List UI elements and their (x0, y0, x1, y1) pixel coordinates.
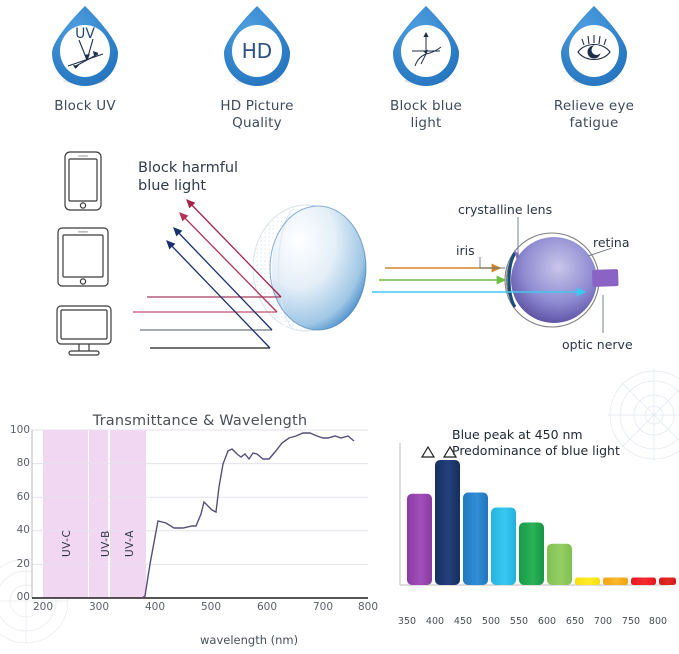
y-tick: 40 (4, 524, 30, 536)
label-crystalline-lens: crystalline lens (458, 202, 552, 217)
bar-650 (575, 578, 600, 586)
blue-peak-note: Blue peak at 450 nm Predominance of blue… (452, 427, 662, 458)
hd-icon: HD (218, 4, 296, 86)
bar-700 (603, 578, 628, 586)
bar-tick: 350 (394, 616, 420, 627)
band-label-uv-b: UV-B (100, 530, 112, 557)
bar-400 (435, 460, 460, 585)
blue-light-block-icon (387, 4, 465, 86)
feature-label: Relieve eye fatigue (509, 98, 679, 132)
y-tick: 80 (4, 457, 30, 469)
bar-tick: 600 (534, 616, 560, 627)
bar-tick: 550 (506, 616, 532, 627)
eyeglass-lens (253, 205, 366, 331)
band-uv-c (43, 430, 88, 598)
feature-row: UV Block UV (0, 0, 679, 140)
feature-label: Block blue light (341, 98, 511, 132)
label-iris: iris (456, 243, 475, 258)
bar-tick: 500 (478, 616, 504, 627)
tablet-icon (58, 228, 108, 286)
bar-750 (631, 578, 656, 586)
optic-nerve-shape (592, 269, 619, 287)
band-label-uv-c: UV-C (61, 530, 73, 557)
feature-relieve-eye-fatigue: Relieve eye fatigue (509, 4, 679, 132)
x-tick: 600 (250, 601, 284, 613)
label-retina: retina (593, 235, 630, 250)
bar-550 (519, 523, 544, 586)
device-group (52, 150, 124, 360)
infographic-root: UV Block UV (0, 0, 679, 654)
y-tick: 100 (4, 424, 30, 436)
smartphone-icon (65, 152, 101, 210)
y-tick: 60 (4, 491, 30, 503)
uv-ray-icon: UV (46, 4, 124, 86)
feature-label: HD Picture Quality (172, 98, 342, 132)
bar-tick: 750 (618, 616, 644, 627)
band-uv-a (110, 430, 146, 598)
bar-800 (659, 578, 676, 586)
bar-600 (547, 544, 572, 585)
bar-tick: 400 (422, 616, 448, 627)
bar-500 (491, 508, 516, 586)
reflected-ray-3 (174, 228, 272, 330)
y-tick: 20 (4, 558, 30, 570)
transmittance-chart (0, 425, 380, 615)
band-label-uv-a: UV-A (124, 530, 136, 557)
bar-tick: 800 (645, 616, 671, 627)
blue-light-diagram: Block harmful blue light (0, 140, 679, 385)
hd-icon-text: HD (242, 39, 272, 63)
band-uv-b (89, 430, 108, 598)
x-axis-label: wavelength (nm) (200, 633, 298, 647)
feature-block-uv: UV Block UV (0, 4, 170, 115)
feature-label: Block UV (0, 98, 170, 115)
reflected-ray-4 (167, 241, 270, 348)
x-tick: 200 (26, 601, 60, 613)
label-optic-nerve: optic nerve (562, 337, 633, 352)
reflected-ray-2 (180, 213, 277, 312)
bar-tick: 650 (562, 616, 588, 627)
x-tick: 400 (138, 601, 172, 613)
block-harmful-text: Block harmful blue light (138, 160, 318, 195)
feature-block-blue-light: Block blue light (341, 4, 511, 132)
bar-450 (463, 493, 488, 586)
peak-marker-icons (422, 447, 456, 457)
bar-tick: 450 (450, 616, 476, 627)
eye-relief-icon (555, 4, 633, 86)
x-tick: 700 (306, 601, 340, 613)
x-tick: 500 (194, 601, 228, 613)
reflected-ray-1 (187, 200, 281, 297)
x-tick: 300 (82, 601, 116, 613)
feature-hd-picture-quality: HD HD Picture Quality (172, 4, 342, 132)
monitor-icon (57, 306, 111, 355)
bar-tick: 700 (590, 616, 616, 627)
charts-row: Transmittance & Wavelength 100 (0, 385, 679, 654)
bar-350 (407, 494, 432, 585)
x-tick: 800 (351, 601, 385, 613)
